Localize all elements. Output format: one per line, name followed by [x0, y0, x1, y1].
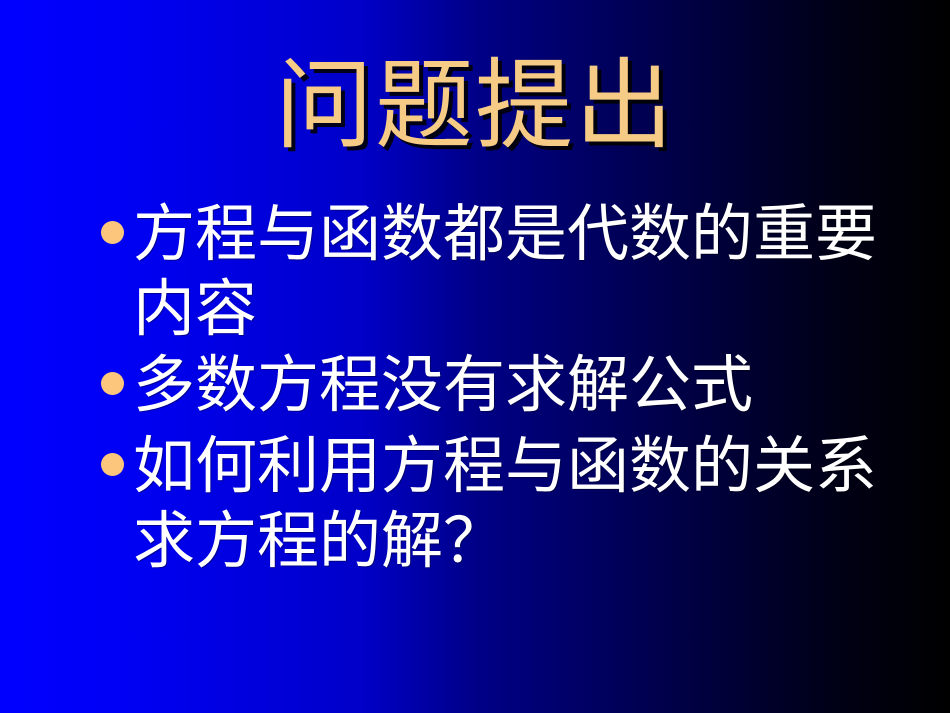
list-item: 多数方程没有求解公式: [96, 347, 896, 422]
presentation-slide: 问题提出 方程与函数都是代数的重要内容 多数方程没有求解公式 如何利用方程与函数…: [0, 0, 950, 713]
bullet-text: 方程与函数都是代数的重要内容: [133, 196, 896, 346]
bullet-list: 方程与函数都是代数的重要内容 多数方程没有求解公式 如何利用方程与函数的关系求方…: [96, 196, 896, 578]
bullet-text: 多数方程没有求解公式: [133, 347, 896, 422]
list-item: 如何利用方程与函数的关系求方程的解？: [96, 428, 896, 578]
filled-circle-bullet-icon: [101, 372, 124, 395]
bullet-text: 如何利用方程与函数的关系求方程的解？: [133, 428, 896, 578]
filled-circle-bullet-icon: [101, 221, 124, 244]
filled-circle-bullet-icon: [101, 453, 124, 476]
slide-title: 问题提出: [0, 52, 950, 162]
list-item: 方程与函数都是代数的重要内容: [96, 196, 896, 346]
